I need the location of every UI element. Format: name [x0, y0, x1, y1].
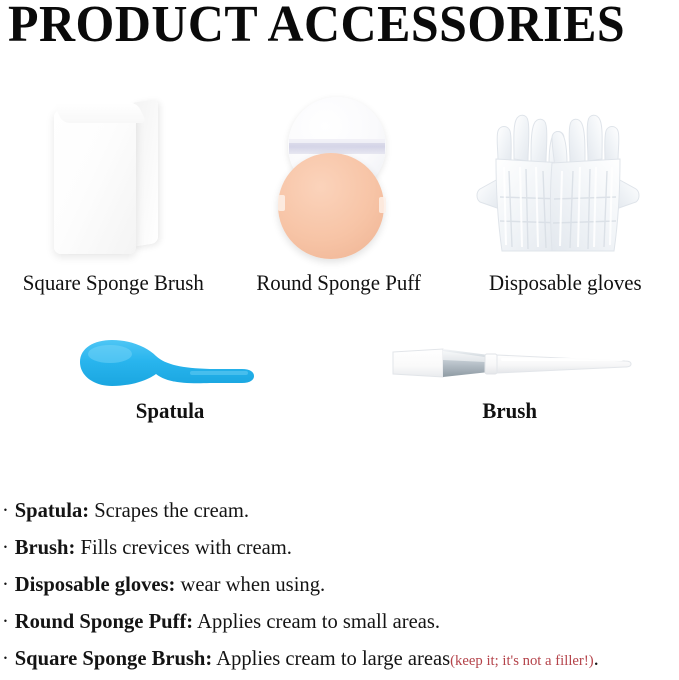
round-sponge-puff-icon [274, 95, 404, 260]
list-item: ·Disposable gloves: wear when using. [2, 566, 664, 603]
product-caption-spatula: Spatula [136, 398, 205, 424]
brush-icon [385, 332, 635, 392]
list-item-label: Spatula: [15, 498, 89, 522]
glove-right-shape [548, 101, 640, 256]
list-item-description: Applies cream to large areas [216, 646, 450, 670]
list-item-description: Applies cream to small areas. [197, 609, 440, 633]
square-sponge-brush-figure [0, 88, 226, 260]
puff-ribbon-band [289, 139, 385, 154]
spatula-icon [70, 332, 270, 392]
sponge-front-face [54, 110, 136, 254]
puff-tab-left [278, 195, 285, 211]
puff-tab-right [379, 197, 386, 213]
product-card-disposable-gloves[interactable]: Disposable gloves [452, 88, 679, 296]
list-item: ·Round Sponge Puff: Applies cream to sma… [2, 603, 664, 640]
list-item-description: wear when using. [181, 572, 326, 596]
product-caption-disposable-gloves: Disposable gloves [489, 270, 642, 296]
product-card-round-sponge-puff[interactable]: Round Sponge Puff [226, 88, 452, 296]
accessory-description-list: ·Spatula: Scrapes the cream. ·Brush: Fil… [2, 492, 677, 680]
product-row-bottom: Spatula [0, 330, 679, 424]
square-sponge-brush-icon [48, 95, 178, 260]
spatula-figure [0, 330, 340, 392]
disposable-gloves-icon [476, 95, 656, 260]
disposable-gloves-figure [452, 88, 679, 260]
list-item-note: (keep it; it's not a filler!) [450, 653, 593, 669]
product-card-square-sponge-brush[interactable]: Square Sponge Brush [0, 88, 226, 296]
product-caption-round-sponge-puff: Round Sponge Puff [257, 270, 422, 296]
list-item-label: Disposable gloves: [15, 572, 176, 596]
list-item-description: Fills crevices with cream. [81, 535, 292, 559]
brush-shape [385, 332, 635, 392]
sponge-top-face [53, 103, 147, 123]
product-card-brush[interactable]: Brush [340, 330, 679, 424]
product-card-spatula[interactable]: Spatula [0, 330, 340, 424]
product-row-top: Square Sponge Brush Round Sponge Puff [0, 88, 679, 296]
list-item-note-tail: . [594, 646, 599, 670]
bullet-icon: · [2, 603, 15, 640]
spatula-shape [70, 332, 270, 392]
list-item-label: Square Sponge Brush: [15, 646, 212, 670]
list-item: ·Square Sponge Brush: Applies cream to l… [2, 640, 664, 680]
round-sponge-puff-figure [226, 88, 452, 260]
bullet-icon: · [2, 492, 15, 529]
bullet-icon: · [2, 529, 15, 566]
page-title: PRODUCT ACCESSORIES [8, 0, 625, 54]
puff-front-disc [278, 153, 384, 259]
bullet-icon: · [2, 640, 15, 677]
list-item-label: Brush: [15, 535, 76, 559]
brush-figure [340, 330, 679, 392]
list-item-label: Round Sponge Puff: [15, 609, 193, 633]
list-item-description: Scrapes the cream. [94, 498, 249, 522]
list-item: ·Brush: Fills crevices with cream. [2, 529, 664, 566]
product-caption-brush: Brush [482, 398, 537, 424]
product-caption-square-sponge-brush: Square Sponge Brush [22, 270, 203, 296]
list-item: ·Spatula: Scrapes the cream. [2, 492, 664, 529]
bullet-icon: · [2, 566, 15, 603]
